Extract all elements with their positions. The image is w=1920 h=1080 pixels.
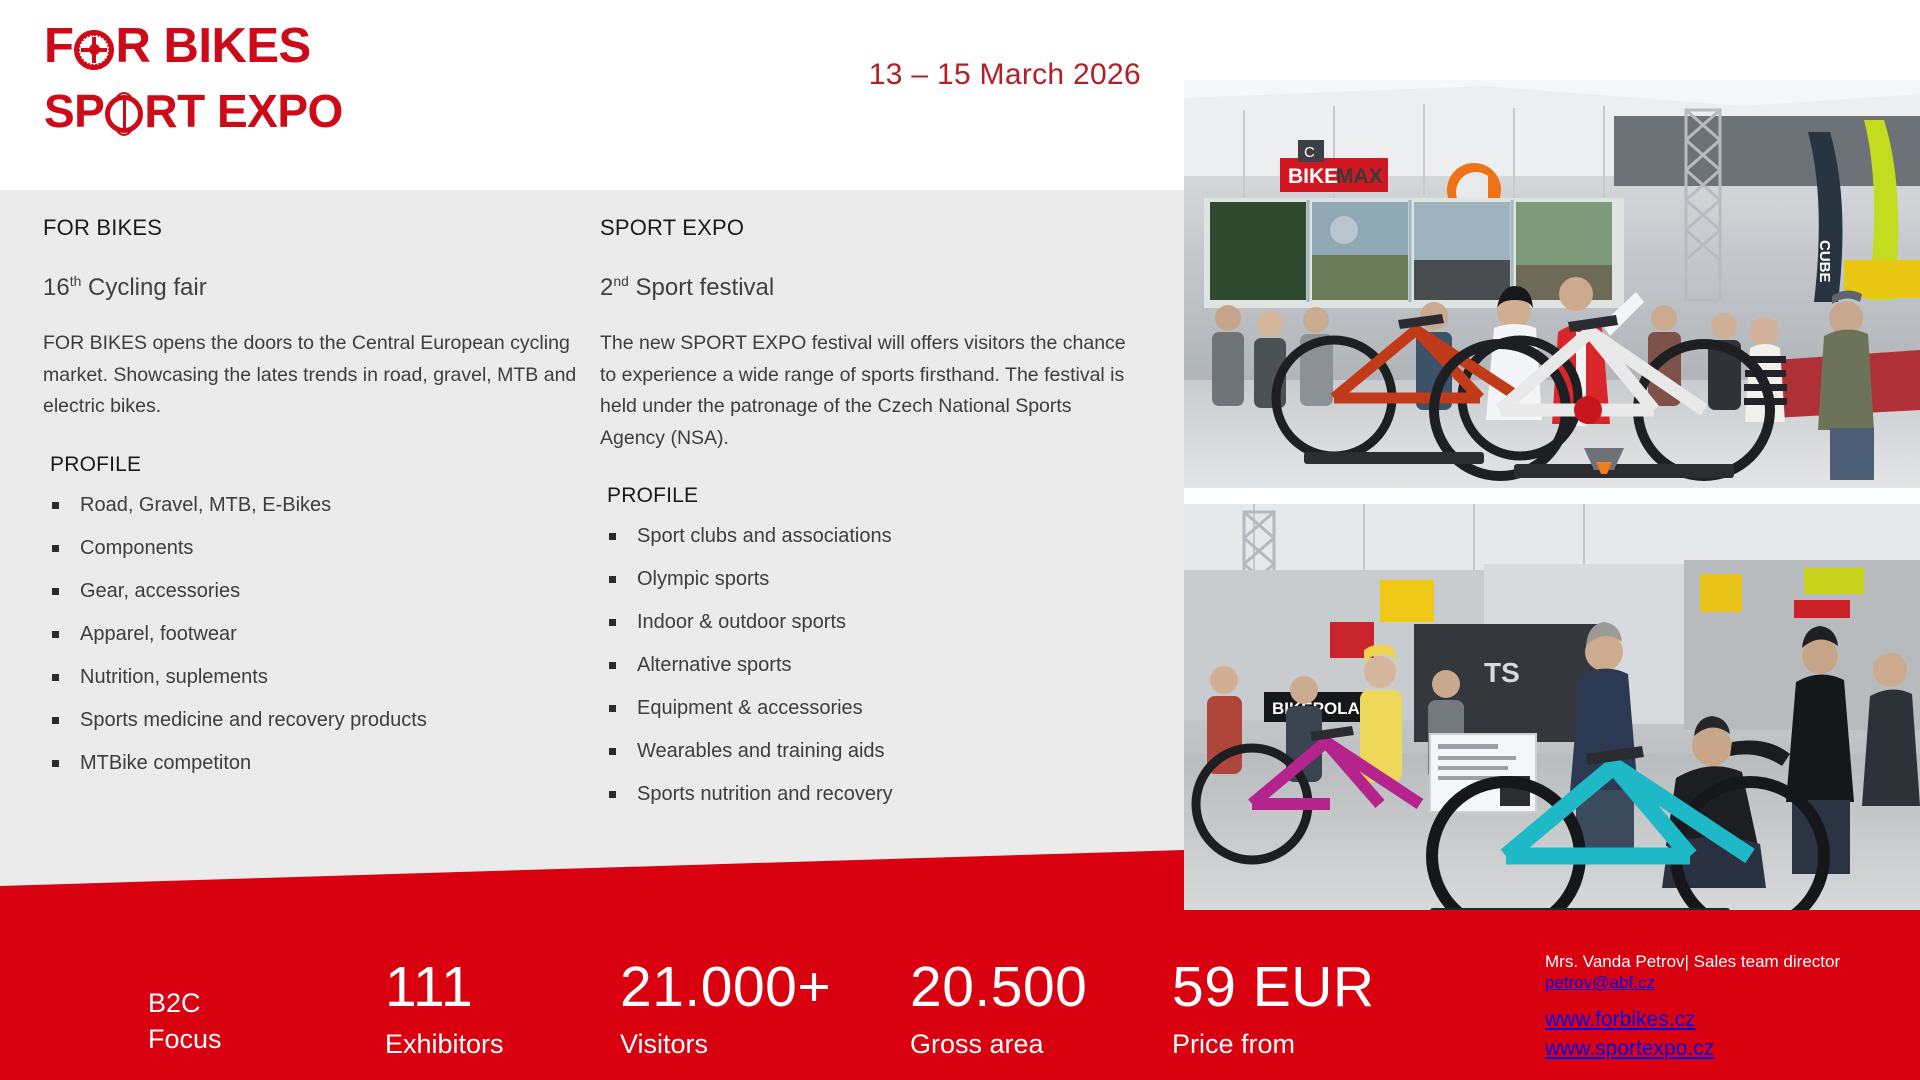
square-bullet-icon bbox=[52, 545, 59, 552]
list-item: MTBike competiton bbox=[43, 753, 583, 773]
column-title-sport-expo: SPORT EXPO bbox=[600, 215, 1140, 241]
brand-logo-line-forbikes: F R BIKES bbox=[44, 22, 343, 72]
svg-text:C: C bbox=[1304, 144, 1315, 161]
svg-text:TS: TS bbox=[1484, 657, 1520, 688]
square-bullet-icon bbox=[609, 791, 616, 798]
list-item: Components bbox=[43, 538, 583, 558]
list-item: Apparel, footwear bbox=[43, 624, 583, 644]
list-item-label: Wearables and training aids bbox=[637, 740, 885, 762]
column-sport-expo: SPORT EXPO 2nd Sport festival The new SP… bbox=[600, 215, 1140, 827]
list-item: Sport clubs and associations bbox=[600, 526, 1140, 546]
event-date: 13 – 15 March 2026 bbox=[869, 58, 1141, 92]
column-subtitle-sport-expo: 2nd Sport festival bbox=[600, 273, 1140, 302]
list-item-label: Road, Gravel, MTB, E-Bikes bbox=[80, 494, 331, 516]
list-item-label: Equipment & accessories bbox=[637, 697, 863, 719]
header: F R BIKES SP RT EXPO bbox=[0, 0, 1184, 190]
square-bullet-icon bbox=[52, 717, 59, 724]
square-bullet-icon bbox=[609, 748, 616, 755]
square-bullet-icon bbox=[609, 705, 616, 712]
stat-focus-line1: B2C bbox=[148, 986, 222, 1022]
stat-exhibitors-label: Exhibitors bbox=[385, 1031, 504, 1058]
square-bullet-icon bbox=[609, 619, 616, 626]
list-item: Nutrition, suplements bbox=[43, 667, 583, 687]
list-item-label: Components bbox=[80, 537, 193, 559]
edition-number: 2 bbox=[600, 274, 613, 301]
footer-stats-bar: B2C Focus 111 Exhibitors 21.000+ Visitor… bbox=[0, 910, 1920, 1080]
edition-ordinal: nd bbox=[613, 273, 628, 289]
brand-logo-line-sportexpo: SP RT EXPO bbox=[44, 88, 343, 135]
svg-text:BIKE: BIKE bbox=[1288, 165, 1338, 188]
stat-visitors-label: Visitors bbox=[620, 1031, 831, 1058]
column-for-bikes: FOR BIKES 16th Cycling fair FOR BIKES op… bbox=[43, 215, 583, 796]
list-item-label: Sport clubs and associations bbox=[637, 525, 892, 547]
list-item-label: Sports medicine and recovery products bbox=[80, 709, 427, 731]
poster-page: F R BIKES SP RT EXPO bbox=[0, 0, 1920, 1080]
stat-gross-area-value: 20.500 bbox=[910, 959, 1087, 1016]
list-item-label: Sports nutrition and recovery bbox=[637, 783, 893, 805]
column-subtitle-for-bikes: 16th Cycling fair bbox=[43, 273, 583, 302]
stat-focus-line2: Focus bbox=[148, 1022, 222, 1058]
list-item-label: Gear, accessories bbox=[80, 580, 240, 602]
square-bullet-icon bbox=[52, 502, 59, 509]
edition-number: 16 bbox=[43, 274, 70, 301]
profile-list-sport-expo: Sport clubs and associations Olympic spo… bbox=[600, 526, 1140, 804]
website-link-forbikes[interactable]: www.forbikes.cz bbox=[1545, 1006, 1840, 1035]
list-item: Sports medicine and recovery products bbox=[43, 710, 583, 730]
square-bullet-icon bbox=[609, 576, 616, 583]
stat-price-from: 59 EUR Price from bbox=[1172, 959, 1375, 1058]
svg-text:MAX: MAX bbox=[1336, 165, 1383, 188]
contact-websites: www.forbikes.cz www.sportexpo.cz bbox=[1545, 1006, 1840, 1064]
basketball-icon bbox=[105, 95, 143, 133]
column-title-for-bikes: FOR BIKES bbox=[43, 215, 583, 241]
stat-price-from-label: Price from bbox=[1172, 1031, 1375, 1058]
square-bullet-icon bbox=[609, 533, 616, 540]
list-item-label: Alternative sports bbox=[637, 654, 792, 676]
list-item: Gear, accessories bbox=[43, 581, 583, 601]
list-item: Sports nutrition and recovery bbox=[600, 784, 1140, 804]
edition-rest: Cycling fair bbox=[81, 274, 206, 301]
brand-sportexpo-prefix: SP bbox=[44, 88, 104, 135]
brand-forbikes-prefix: F bbox=[44, 22, 73, 72]
brand-forbikes-suffix: R BIKES bbox=[115, 22, 310, 72]
square-bullet-icon bbox=[609, 662, 616, 669]
list-item: Equipment & accessories bbox=[600, 698, 1140, 718]
photo-bike-expo-visitors: TS BIKEPOLAR bbox=[1184, 504, 1920, 924]
stat-visitors: 21.000+ Visitors bbox=[620, 959, 831, 1058]
column-paragraph-sport-expo: The new SPORT EXPO festival will offers … bbox=[600, 328, 1140, 454]
website-link-sportexpo[interactable]: www.sportexpo.cz bbox=[1545, 1035, 1840, 1064]
list-item-label: Nutrition, suplements bbox=[80, 666, 268, 688]
stat-visitors-value: 21.000+ bbox=[620, 959, 831, 1016]
list-item-label: Apparel, footwear bbox=[80, 623, 237, 645]
contact-email-link[interactable]: petrov@abf.cz bbox=[1545, 972, 1655, 993]
stat-gross-area-label: Gross area bbox=[910, 1031, 1087, 1058]
list-item: Road, Gravel, MTB, E-Bikes bbox=[43, 495, 583, 515]
svg-text:CUBE: CUBE bbox=[1816, 240, 1833, 283]
profile-list-for-bikes: Road, Gravel, MTB, E-Bikes Components Ge… bbox=[43, 495, 583, 773]
edition-rest: Sport festival bbox=[629, 274, 774, 301]
profile-title-sport-expo: PROFILE bbox=[607, 484, 1140, 508]
photo-bike-expo-hall: BIKE MAX C bbox=[1184, 80, 1920, 488]
stat-exhibitors: 111 Exhibitors bbox=[385, 959, 504, 1058]
brand-sportexpo-suffix: RT EXPO bbox=[144, 88, 342, 135]
list-item-label: Olympic sports bbox=[637, 568, 769, 590]
list-item-label: MTBike competiton bbox=[80, 752, 251, 774]
column-paragraph-for-bikes: FOR BIKES opens the doors to the Central… bbox=[43, 328, 583, 423]
contact-block: Mrs. Vanda Petrov| Sales team director p… bbox=[1545, 951, 1840, 1064]
contact-person: Mrs. Vanda Petrov| Sales team director bbox=[1545, 951, 1840, 972]
square-bullet-icon bbox=[52, 588, 59, 595]
square-bullet-icon bbox=[52, 631, 59, 638]
profile-title-for-bikes: PROFILE bbox=[50, 453, 583, 477]
list-item: Alternative sports bbox=[600, 655, 1140, 675]
stat-exhibitors-value: 111 bbox=[385, 959, 504, 1016]
list-item: Wearables and training aids bbox=[600, 741, 1140, 761]
stat-focus: B2C Focus bbox=[148, 986, 222, 1058]
list-item: Olympic sports bbox=[600, 569, 1140, 589]
square-bullet-icon bbox=[52, 760, 59, 767]
edition-ordinal: th bbox=[70, 273, 82, 289]
stat-gross-area: 20.500 Gross area bbox=[910, 959, 1087, 1058]
chainring-icon bbox=[74, 30, 114, 70]
list-item-label: Indoor & outdoor sports bbox=[637, 611, 846, 633]
list-item: Indoor & outdoor sports bbox=[600, 612, 1140, 632]
square-bullet-icon bbox=[52, 674, 59, 681]
footer-diagonal-edge bbox=[0, 850, 1184, 910]
brand-logo: F R BIKES SP RT EXPO bbox=[44, 22, 343, 135]
stat-price-from-value: 59 EUR bbox=[1172, 959, 1375, 1016]
